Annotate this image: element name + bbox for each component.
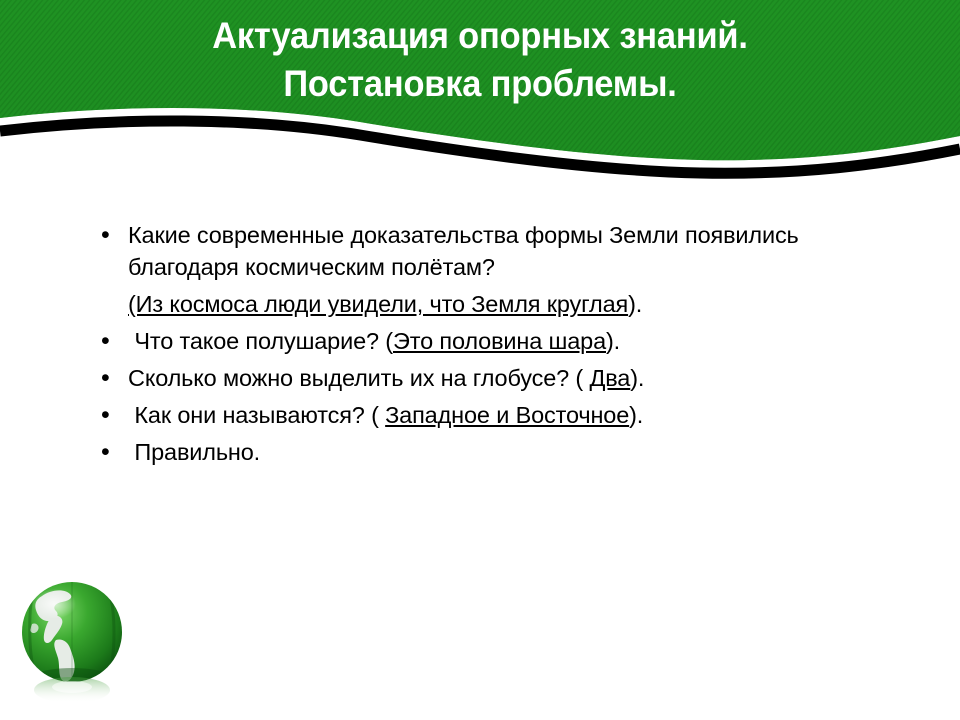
list-item: • Как они называются? ( Западное и Восто… [96,399,896,431]
list-item-continuation: (Из космоса люди увидели, что Земля круг… [128,288,896,320]
list-item: • Что такое полушарие? (Это половина шар… [96,325,896,357]
green-glass-globe-icon [12,574,140,706]
bullet-icon: • [96,436,128,468]
slide-title: Актуализация опорных знаний. Постановка … [0,12,960,108]
slide-canvas: Актуализация опорных знаний. Постановка … [0,0,960,720]
text-segment: Какие современные доказательства формы З… [128,222,805,280]
bullet-icon: • [96,325,128,357]
text-segment: Сколько можно выделить их на глобусе? ( [128,365,589,391]
list-item-text: Сколько можно выделить их на глобусе? ( … [128,362,644,394]
list-item-text: Правильно. [128,436,260,468]
text-segment-underlined: Два [589,365,630,391]
bullet-icon: • [96,399,128,431]
list-item: • Сколько можно выделить их на глобусе? … [96,362,896,394]
text-segment: Как они называются? ( [128,402,385,428]
text-segment: Правильно. [128,439,260,465]
bullet-icon: • [96,219,128,251]
list-item-text: Как они называются? ( Западное и Восточн… [128,399,643,431]
text-segment-underlined: (Из космоса люди увидели, что Земля круг… [128,291,628,317]
bullet-icon: • [96,362,128,394]
globe-highlight [32,589,76,619]
globe-reflection [34,677,110,703]
body-content: • Какие современные доказательства формы… [96,219,896,473]
list-item: • Какие современные доказательства формы… [96,219,896,283]
list-item-text: Что такое полушарие? (Это половина шара)… [128,325,620,357]
list-item-text: Какие современные доказательства формы З… [128,219,896,283]
text-segment: ). [606,328,620,354]
list-item: • Правильно. [96,436,896,468]
text-segment: ). [628,291,642,317]
text-segment: ). [629,402,643,428]
title-line-1: Актуализация опорных знаний. [34,12,927,60]
text-segment: Что такое полушарие? ( [128,328,393,354]
text-segment: ). [630,365,644,391]
title-line-2: Постановка проблемы. [34,60,927,108]
globe-image [12,574,140,706]
text-segment-underlined: Западное и Восточное [385,402,629,428]
text-segment-underlined: Это половина шара [393,328,606,354]
black-wave-stroke [0,121,960,173]
list-item-text: (Из космоса люди увидели, что Земля круг… [128,288,896,320]
